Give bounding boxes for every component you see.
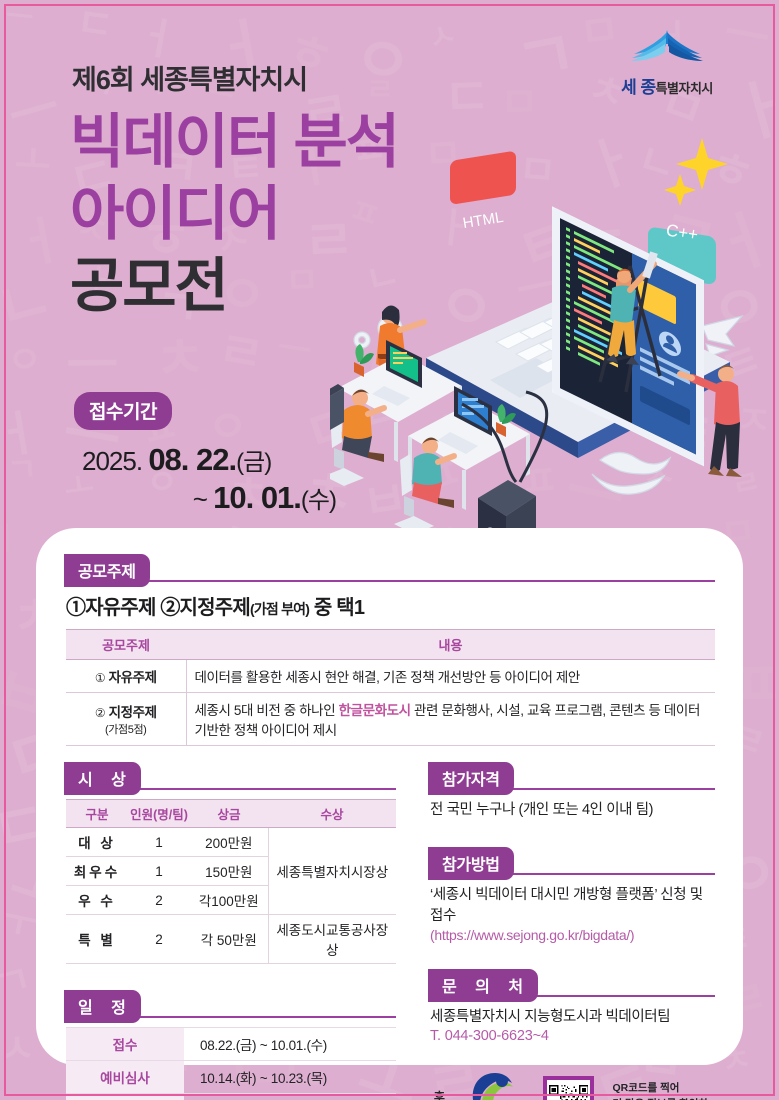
topic-table-header-row: 공모주제 내용 xyxy=(66,630,715,660)
award-row-2-count: 2 xyxy=(128,886,190,915)
method-url[interactable]: (https://www.sejong.go.kr/bigdata/) xyxy=(430,927,715,943)
section-label-topic: 공모주제 xyxy=(64,554,150,587)
topic-row-1-label: 지정주제 xyxy=(109,705,157,720)
section-label-schedule: 일 정 xyxy=(64,990,141,1023)
table-row: 특 별 2 각 50만원 세종도시교통공사장상 xyxy=(66,915,396,964)
section-header-method: 참가방법 xyxy=(430,847,715,877)
qr-code[interactable] xyxy=(543,1076,595,1100)
sponsor-label: 후원 xyxy=(430,1088,449,1100)
section-label-award: 시 상 xyxy=(64,762,141,795)
left-column: 시 상 구분 인원(명/팀) 상금 수상 대 상 xyxy=(66,762,396,1100)
table-row: ① 자유주제 데이터를 활용한 세종시 현안 해결, 기존 정책 개선방안 등 … xyxy=(66,660,715,693)
award-row-1-count: 1 xyxy=(128,857,190,886)
section-label-method: 참가방법 xyxy=(428,847,514,880)
award-row-2-prize: 각100만원 xyxy=(190,886,268,915)
topic-row-1-num: ② xyxy=(95,706,105,720)
section-label-contact: 문 의 처 xyxy=(428,969,538,1002)
award-table: 구분 인원(명/팀) 상금 수상 대 상 1 200만원 세종특별자치시장상 xyxy=(66,799,396,964)
topic-row-1-content: 세종시 5대 비전 중 하나인 한글문화도시 관련 문화행사, 시설, 교육 프… xyxy=(186,693,715,746)
section-header-award: 시 상 xyxy=(66,762,396,792)
poster-root: ㅡㄷㅓㅓㅎㅇㅅㄱㅁㅓㅡㅡㄱㅏㅡㄹㄹㄷㅁㅊㅁㅏㅗㄷㅋㅌㅣㅍㅁㅁㅏㄴㅎㅓㅈㅎㅈㄹㅍㅏ… xyxy=(0,0,779,1100)
topic-col-header-0: 공모주제 xyxy=(66,630,186,660)
section-header-contact: 문 의 처 xyxy=(430,969,715,999)
info-card: 공모주제 ①자유주제 ②지정주제(가점 부여) 중 택1 공모주제 내용 ① 자… xyxy=(36,528,743,1065)
date-line-end: ~ 10. 01.(수) xyxy=(74,480,354,516)
method-text: ‘세종시 빅데이터 대시민 개방형 플랫폼’ 신청 및 접수 xyxy=(430,885,715,927)
paper-plane-icon xyxy=(702,316,742,356)
schedule-row-2-value: 10.27.(월) ~ 10.31.(금) xyxy=(184,1094,396,1100)
topic-summary-suffix: 중 택1 xyxy=(309,597,364,619)
date-end-dow: (수) xyxy=(301,487,336,514)
date-tilde: ~ xyxy=(193,484,207,514)
table-row: ② 지정주제 (가점5점) 세종시 5대 비전 중 하나인 한글문화도시 관련 … xyxy=(66,693,715,746)
award-row-3-division: 특 별 xyxy=(66,915,128,964)
title-line-1: 빅데이터 분석 xyxy=(70,106,398,178)
sparkle-icon xyxy=(664,138,728,206)
pc-tower xyxy=(478,480,536,530)
sejong-wordmark: 세 종특별자치시 xyxy=(597,73,737,98)
topic-summary-note: (가점 부여) xyxy=(250,601,309,617)
section-header-schedule: 일 정 xyxy=(66,990,396,1020)
eligibility-text: 전 국민 누구나 (개인 또는 4인 이내 팀) xyxy=(430,800,715,821)
application-period: 접수기간 2025. 08. 22.(금) ~ 10. 01.(수) xyxy=(74,392,354,516)
footer-row: 후원 세종도시교통공사 xyxy=(430,1070,715,1100)
poster-subtitle: 제6회 세종특별자치시 xyxy=(72,58,307,97)
award-row-2-division: 우 수 xyxy=(66,886,128,915)
tag-html: HTML xyxy=(450,151,516,233)
poster-title: 빅데이터 분석 아이디어 공모전 xyxy=(70,106,398,322)
logo-city-name: 세 종 xyxy=(621,78,656,97)
topic-row-0-num: ① xyxy=(95,671,105,685)
sejong-transport-logo-icon xyxy=(469,1070,515,1100)
award-table-header-row: 구분 인원(명/팀) 상금 수상 xyxy=(66,800,396,828)
section-header-topic: 공모주제 xyxy=(66,554,715,584)
award-row-0-division: 대 상 xyxy=(66,828,128,857)
section-rule xyxy=(66,580,715,582)
table-row: 결과발표 10.27.(월) ~ 10.31.(금) xyxy=(66,1094,396,1100)
schedule-row-2-label: 결과발표 xyxy=(66,1094,184,1100)
schedule-row-1-value: 10.14.(화) ~ 10.23.(목) xyxy=(184,1061,396,1094)
sejong-city-logo: 세 종특별자치시 xyxy=(597,28,737,98)
date-start: 08. 22. xyxy=(148,442,236,477)
logo-city-suffix: 특별자치시 xyxy=(656,81,713,96)
title-line-3: 공모전 xyxy=(70,250,398,322)
contact-tel: T. 044-300-6623~4 xyxy=(430,1028,715,1044)
qr-code-image xyxy=(549,1082,589,1100)
schedule-row-1-label: 예비심사 xyxy=(66,1061,184,1094)
date-line-start: 2025. 08. 22.(금) xyxy=(74,442,354,478)
table-row: 대 상 1 200만원 세종특별자치시장상 xyxy=(66,828,396,857)
table-row: 접수 08.22.(금) ~ 10.01.(수) xyxy=(66,1028,396,1061)
topic-row-0-name: ① 자유주제 xyxy=(66,660,186,693)
table-row: 예비심사 10.14.(화) ~ 10.23.(목) xyxy=(66,1061,396,1094)
schedule-row-0-value: 08.22.(금) ~ 10.01.(수) xyxy=(184,1028,396,1061)
award-row-1-division: 최우수 xyxy=(66,857,128,886)
award-row-0-count: 1 xyxy=(128,828,190,857)
award-merged-cell-2: 세종도시교통공사장상 xyxy=(268,915,396,964)
topic-table: 공모주제 내용 ① 자유주제 데이터를 활용한 세종시 현안 해결, 기존 정책… xyxy=(66,629,715,746)
contact-org: 세종특별자치시 지능형도시과 빅데이터팀 xyxy=(430,1007,715,1028)
schedule-row-0-label: 접수 xyxy=(66,1028,184,1061)
section-label-eligibility: 참가자격 xyxy=(428,762,514,795)
award-row-1-prize: 150만원 xyxy=(190,857,268,886)
date-start-dow: (금) xyxy=(236,449,271,476)
application-period-badge: 접수기간 xyxy=(74,392,172,430)
award-row-0-prize: 200만원 xyxy=(190,828,268,857)
date-year: 2025. xyxy=(82,446,142,476)
qr-note: QR코드를 찍어 더 많은 정보를 확인하세요! xyxy=(612,1081,715,1100)
award-col-header-0: 구분 xyxy=(66,800,128,828)
topic-col-header-1: 내용 xyxy=(186,630,715,660)
section-header-eligibility: 참가자격 xyxy=(430,762,715,792)
topic-row-1-highlight: 한글문화도시 xyxy=(339,703,411,718)
right-column: 참가자격 전 국민 누구나 (개인 또는 4인 이내 팀) 참가방법 ‘세종시 … xyxy=(422,762,715,1100)
award-col-header-1: 인원(명/팀) xyxy=(128,800,190,828)
topic-row-1-pre: 세종시 5대 비전 중 하나인 xyxy=(195,703,339,718)
qr-note-line-1: QR코드를 찍어 xyxy=(612,1081,715,1097)
award-merged-cell-1: 세종특별자치시장상 xyxy=(268,828,396,915)
schedule-table: 접수 08.22.(금) ~ 10.01.(수) 예비심사 10.14.(화) … xyxy=(66,1027,396,1100)
tag-html-label: HTML xyxy=(462,209,505,232)
link-icon xyxy=(592,452,670,494)
sponsor-logo-wrap: 세종도시교통공사 xyxy=(459,1070,525,1100)
topic-summary: ①자유주제 ②지정주제(가점 부여) 중 택1 xyxy=(66,591,715,620)
award-col-header-3: 수상 xyxy=(268,800,396,828)
topic-row-1-name: ② 지정주제 (가점5점) xyxy=(66,693,186,746)
sponsor-block: 후원 세종도시교통공사 xyxy=(430,1070,525,1100)
award-row-3-count: 2 xyxy=(128,915,190,964)
award-row-3-prize: 각 50만원 xyxy=(190,915,268,964)
date-end: 10. 01. xyxy=(213,480,301,515)
topic-row-0-content: 데이터를 활용한 세종시 현안 해결, 기존 정책 개선방안 등 아이디어 제안 xyxy=(186,660,715,693)
award-col-header-2: 상금 xyxy=(190,800,268,828)
topic-summary-prefix: ①자유주제 ②지정주제 xyxy=(66,597,250,619)
topic-row-0-label: 자유주제 xyxy=(109,670,157,685)
sejong-wing-icon xyxy=(624,28,710,70)
topic-row-1-note: (가점5점) xyxy=(74,721,178,737)
title-line-2: 아이디어 xyxy=(70,178,398,250)
